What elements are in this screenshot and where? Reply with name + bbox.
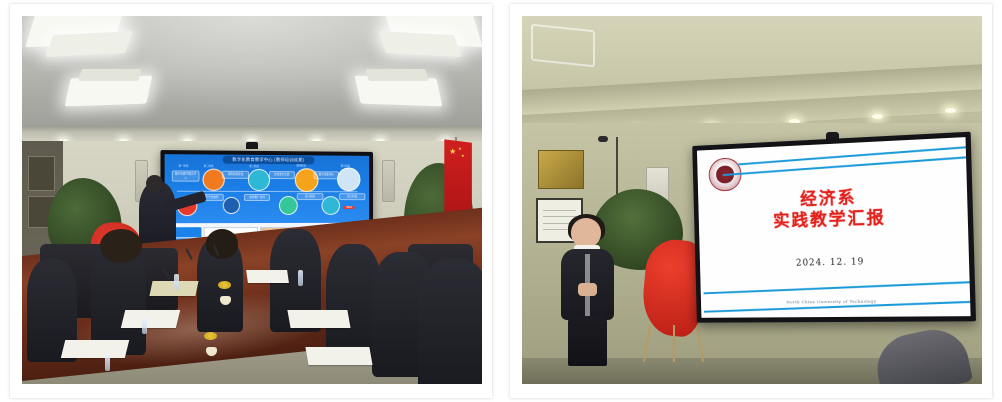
slide-date: 2024. 12. 19 — [699, 255, 968, 270]
node-tag: 第四阶段 — [291, 163, 311, 167]
paper-sheet — [61, 340, 130, 358]
water-bottle — [298, 270, 303, 286]
node-caption: 教学成果评价 — [313, 171, 339, 178]
water-bottle — [105, 355, 110, 371]
ceiling-panel-light — [45, 31, 132, 57]
attendee-hair — [100, 229, 141, 262]
presenter-head — [571, 218, 601, 247]
framed-picture — [28, 156, 56, 191]
right-photo-image: 经济系 实践教学汇报 2024. 12. 19 North China Univ… — [522, 16, 982, 384]
presenter-hands — [578, 283, 596, 296]
photo-composite: ★ ★ ★ 数字化教育教学中心 (教师培训成果) 第一阶段 数字化教学理念导入 … — [0, 0, 1002, 402]
node-dot — [279, 196, 298, 215]
easel-stand — [646, 325, 701, 362]
left-photo-image: ★ ★ ★ 数字化教育教学中心 (教师培训成果) 第一阶段 数字化教学理念导入 … — [22, 16, 482, 384]
paper-sheet — [246, 270, 289, 283]
water-bottle — [142, 318, 147, 334]
node-caption: 智慧课堂实践 — [269, 171, 295, 178]
node-dot — [223, 196, 240, 213]
presenter-head — [146, 175, 163, 192]
node-dot — [338, 167, 361, 191]
new-badge: NEW — [344, 205, 356, 208]
slide-blue-band: 数字化教育教学中心 (教师培训成果) 第一阶段 数字化教学理念导入 第二阶段 教… — [165, 154, 370, 223]
presentation-display: 经济系 实践教学汇报 2024. 12. 19 North China Univ… — [692, 132, 976, 323]
node-dot — [248, 168, 270, 190]
node-caption: 第五阶段 — [340, 192, 366, 199]
node-dot — [322, 196, 341, 215]
left-photo-frame: ★ ★ ★ 数字化教育教学中心 (教师培训成果) 第一阶段 数字化教学理念导入 … — [10, 4, 492, 398]
right-photo-frame: 经济系 实践教学汇报 2024. 12. 19 North China Univ… — [510, 4, 992, 398]
flower-arrangement — [218, 281, 231, 289]
downlight — [872, 114, 883, 119]
timeline-nodes: 第一阶段 数字化教学理念导入 第二阶段 教学平台操作 课程资源建设 第三阶段 智… — [165, 154, 370, 223]
node-caption: 课程资源建设 — [222, 171, 249, 178]
ceiling-light-fixture — [531, 24, 595, 68]
node-caption: 第六阶段 — [297, 192, 323, 199]
paper-sheet — [287, 310, 350, 328]
ceiling-camera-icon — [598, 136, 608, 142]
node-tag: 第一阶段 — [173, 163, 194, 167]
attendee-hair — [206, 229, 238, 258]
ppt-title-slide: 经济系 实践教学汇报 2024. 12. 19 North China Univ… — [697, 137, 971, 317]
slide-main-title: 经济系 实践教学汇报 — [698, 184, 968, 235]
paper-sheet — [306, 347, 374, 365]
ceiling-panel-light — [78, 69, 141, 81]
attendee — [418, 259, 482, 384]
presenter-trousers — [568, 316, 607, 366]
node-caption: 数字化教学理念导入 — [172, 170, 199, 181]
ceiling-panel-light — [379, 31, 462, 57]
ceiling-panel-light — [365, 69, 428, 81]
node-tag: 第五阶段 — [336, 163, 356, 167]
slide-rule-top — [722, 156, 968, 176]
slide-rule-bottom — [703, 281, 970, 294]
node-tag: 第三阶段 — [244, 163, 265, 167]
slide-rule-top — [738, 146, 969, 165]
conference-camera-icon — [246, 142, 258, 149]
node-caption: 成果推广应用 — [244, 194, 271, 201]
node-tag: 第二阶段 — [199, 163, 220, 167]
paper-sheet — [121, 310, 181, 328]
flower-vase — [220, 296, 231, 305]
water-bottle — [174, 274, 179, 290]
presenter-woman — [559, 218, 617, 365]
wall-speaker — [382, 160, 395, 202]
gold-plaque — [538, 150, 584, 189]
